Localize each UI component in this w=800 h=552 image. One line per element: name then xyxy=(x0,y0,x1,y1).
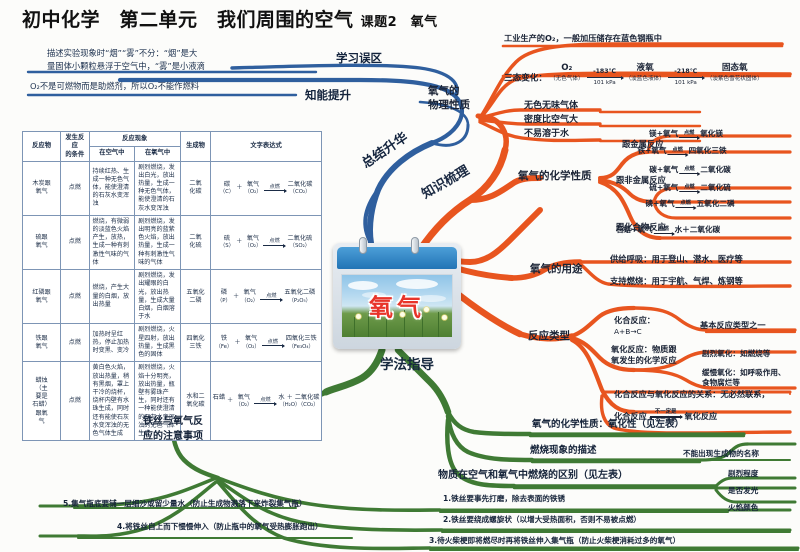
mindmap-canvas: 初中化学 第二单元 我们周围的空气 课题2 氧气 描述实验现象时“烟”“雾”不分… xyxy=(0,0,800,552)
cell-in-air: 持续红热、生成一种无色气体，能使澄清的石灰水变浑浊 xyxy=(89,161,135,215)
iron-note-3: 3.待火柴梗即将燃尽时再将铁丝伸入集气瓶（防止火柴梗消耗过多的氧气） xyxy=(429,537,680,546)
misconception-line-2: 量固体小颗粒悬浮于空气中，“雾”是小液滴 xyxy=(47,60,205,73)
physical-properties-label[interactable]: 氧气的物理性质 xyxy=(428,84,470,112)
nonmetal-equation-2: 硫+氧气点燃二氧化硫 xyxy=(649,184,731,193)
table-row: 红磷跟氧气点燃燃烧，产生大量的白烟，放出热量剧烈燃烧，发出耀眼的白光，放出热量，… xyxy=(23,270,322,324)
physical-property-2: 密度比空气大 xyxy=(524,115,578,125)
slow-oxidation: 缓慢氧化：如呼吸作用、食物腐烂等 xyxy=(702,368,786,389)
tristate-s2: 液氧 xyxy=(637,63,654,73)
green-chem-oxidizing: 氧气的化学性质：氧化性（见左表） xyxy=(532,420,684,431)
tristate-s2-note: （淡蓝色液体） xyxy=(626,76,665,82)
cell-product: 四氧化三铁 xyxy=(180,324,210,362)
tristate-t2: -218℃ xyxy=(674,68,697,75)
cell-condition: 点燃 xyxy=(61,362,89,441)
tristate-label: 三态变化： xyxy=(504,73,547,83)
tristate-p1: 101 kPa xyxy=(593,80,615,86)
cell-in-oxygen: 剧烈燃烧，发出明亮的蓝紫色火焰，放出热量，生成一种有刺激性气味的气体 xyxy=(135,215,181,269)
label-method-branch[interactable]: 学法指导 xyxy=(380,358,434,374)
cell-condition: 点燃 xyxy=(61,270,89,324)
nonmetal-equation-3: 磷+氧气点燃五氧化二磷 xyxy=(645,200,734,209)
misconception-line-1: 描述实验现象时“烟”“雾”不分：“烟”是大 xyxy=(47,47,205,60)
tristate-s1-note: （无色气体） xyxy=(550,76,584,82)
tristate-s3: 固态氧 xyxy=(722,63,748,73)
tristate-p2: 101 kPa xyxy=(675,80,697,86)
tristate-s3-note: （淡紫色雪花状固体） xyxy=(707,76,763,82)
reaction-table: 反应物 发生反应的条件 反应现象 生成物 文字表达式 在空气中 在氧气中 木炭跟… xyxy=(22,131,322,441)
label-learning-misconception[interactable]: 学习误区 xyxy=(336,52,382,65)
tristate-s1: O₂ xyxy=(561,63,572,73)
th-phenomena: 反应现象 xyxy=(89,132,180,147)
iron-note-5: 5.集气瓶底要铺一层细沙或留少量水（防止生成物溅落下来炸裂集气瓶） xyxy=(63,500,307,509)
metal-equation-2: 铁+氧气点燃四氧化三铁 xyxy=(637,147,726,156)
cell-reactant: 蜡烛（主要是石蜡）跟氧气 xyxy=(23,362,61,441)
misconception-text-1: 描述实验现象时“烟”“雾”不分：“烟”是大 量固体小颗粒悬浮于空气中，“雾”是小… xyxy=(47,47,205,73)
difference-point-2: 是否发光 xyxy=(728,487,758,496)
cell-in-air: 黄白色火焰，放出热量，稍有黑烟，罩上干冷的烧杯，烧杯内壁有水珠生成，同时还有能使… xyxy=(89,362,135,441)
table-row: 铁跟氧气点燃加热时呈红热，停止加热时变黑、变冷剧烈燃烧，火星四射，放出热量，生成… xyxy=(23,324,322,362)
th-in-air: 在空气中 xyxy=(89,146,135,161)
metal-equation-1: 镁+氧气点燃氧化镁 xyxy=(649,130,723,139)
tristate-arrow-2: -218℃ 101 kPa xyxy=(668,67,704,88)
cell-in-oxygen: 剧烈燃烧，发出白光，放出热量，生成一种无色气体，能使澄清的石灰水变浑浊 xyxy=(135,161,181,215)
table-header-row: 反应物 发生反应的条件 反应现象 生成物 文字表达式 xyxy=(23,132,322,147)
calendar-body: 氧气 xyxy=(333,243,461,349)
page-title: 初中化学 第二单元 我们周围的空气 课题2 氧气 xyxy=(22,10,438,32)
tristate-state-2: 液氧 （淡蓝色液体） xyxy=(626,63,665,84)
tristate-t1: -183℃ xyxy=(593,68,616,75)
cell-equation: 硫（S）＋氧气（O₂）点燃二氧化硫（SO₂） xyxy=(211,215,322,269)
misconception-text-2: O₂不是可燃物而是助燃剂，所以O₂不能作燃料 xyxy=(30,82,199,92)
cell-equation: 石蜡 ＋氧气（O₂）点燃水 ＋ 二氧化碳（H₂O）（CO₂） xyxy=(211,362,322,441)
th-product: 生成物 xyxy=(180,132,210,162)
table-body: 木炭跟氧气点燃持续红热、生成一种无色气体，能使澄清的石灰水变浑浊剧烈燃烧，发出白… xyxy=(23,161,322,441)
th-equation: 文字表达式 xyxy=(211,132,322,162)
relation-note: 化合反应与氧化反应的关系：无必然联系， xyxy=(614,390,770,399)
violent-oxidation: 剧烈氧化：如燃烧等 xyxy=(702,350,770,359)
th-in-oxygen: 在氧气中 xyxy=(135,146,181,161)
cell-condition: 点燃 xyxy=(61,161,89,215)
nonmetal-equation-1: 碳+氧气点燃二氧化碳 xyxy=(649,166,731,175)
title-main: 初中化学 第二单元 我们周围的空气 xyxy=(22,9,354,31)
oxygen-uses-label[interactable]: 氧气的用途 xyxy=(530,263,583,275)
cell-condition: 点燃 xyxy=(61,324,89,362)
no-product-name-note: 不能出现生成物的名称 xyxy=(683,450,759,459)
iron-note-4: 4.将铁丝自上而下慢慢伸入（防止瓶中的氧气受热膨胀跑出） xyxy=(117,523,323,532)
cell-product: 二氧化硫 xyxy=(180,215,210,269)
cell-product: 五氧化二磷 xyxy=(180,270,210,324)
chemical-properties-label[interactable]: 氧气的化学性质 xyxy=(518,170,592,182)
title-sub: 课题2 氧气 xyxy=(361,15,438,30)
table-row: 硫跟氧气点燃燃烧，有微弱的淡蓝色火焰产生，放热，生成一种有刺激性气味的气体剧烈燃… xyxy=(23,215,322,269)
iron-note-2: 2.铁丝要绕成螺旋状（以增大受热面积，否则不易被点燃） xyxy=(443,516,641,525)
th-condition: 发生反应的条件 xyxy=(61,132,89,162)
physical-property-3: 不易溶于水 xyxy=(524,129,569,139)
physical-property-1: 无色无味气体 xyxy=(524,101,578,111)
cell-equation: 磷（P）＋氧气（O₂）点燃五氧化二磷（P₂O₅） xyxy=(211,270,322,324)
iron-wire-note-label[interactable]: 铁丝与氧气反应的注意事项 xyxy=(143,415,203,444)
tristate-change: 三态变化： O₂ （无色气体） -183℃ 101 kPa 液氧 （淡蓝色液体）… xyxy=(504,63,763,88)
burning-description-label[interactable]: 燃烧现象的描述 xyxy=(530,446,597,457)
cell-in-air: 燃烧，产生大量的白烟，放出热量 xyxy=(89,270,135,324)
difference-point-3: 火焰颜色 xyxy=(728,504,758,513)
combination-label: 化合反应： xyxy=(614,315,655,325)
cell-equation: 碳（C）＋氧气（O₂）点燃二氧化碳（CO₂） xyxy=(211,161,322,215)
industrial-oxygen-note: 工业生产的O₂，一般加压储存在蓝色钢瓶中 xyxy=(504,34,662,43)
combination-reaction: 化合反应： A+B→C xyxy=(614,315,655,337)
calendar-ring-left xyxy=(359,237,367,254)
air-vs-oxygen-difference: 物质在空气和氧气中燃烧的区别（见左表） xyxy=(438,470,628,482)
cell-in-oxygen: 剧烈燃烧，火星四射，放出热量，生成黑色的固体 xyxy=(135,324,181,362)
center-node-title: 氧气 xyxy=(342,287,452,322)
tristate-state-1: O₂ （无色气体） xyxy=(550,63,584,84)
label-ability-improvement[interactable]: 知能提升 xyxy=(305,89,351,102)
oxygen-use-2: 支持燃烧：用于宇航、气焊、炼钢等 xyxy=(610,277,743,287)
cell-reactant: 木炭跟氧气 xyxy=(23,161,61,215)
cell-equation: 铁（Fe）＋氧气（O₂）点燃四氧化三铁（Fe₃O₄） xyxy=(211,324,322,362)
calendar-header-bar xyxy=(337,247,457,269)
cell-in-oxygen: 剧烈燃烧，发出耀眼的白光，放出热量，生成大量白烟，白烟溶于水 xyxy=(135,270,181,324)
cell-reactant: 硫跟氧气 xyxy=(23,215,61,269)
label-knowledge-branch[interactable]: 知识梳理 xyxy=(420,164,473,203)
oxidation-reaction: 氧化反应：物质跟氧发生的化学反应 xyxy=(611,344,677,367)
compound-equation-1: 石蜡+氧气点燃水＋二氧化碳 xyxy=(616,226,720,235)
cell-in-air: 加热时呈红热，停止加热时变黑、变冷 xyxy=(89,324,135,362)
th-reactant: 反应物 xyxy=(23,132,61,162)
difference-point-1: 剧烈程度 xyxy=(728,470,758,479)
basic-reaction-type: 基本反应类型之一 xyxy=(700,321,766,330)
combination-formula: A+B→C xyxy=(614,327,642,336)
calendar-photo: 氧气 xyxy=(341,274,453,338)
relation-right: 氧化反应 xyxy=(684,411,717,421)
label-summary-branch[interactable]: 总结升华 xyxy=(360,131,411,172)
cell-in-air: 燃烧，有微弱的淡蓝色火焰产生，放热，生成一种有刺激性气味的气体 xyxy=(89,215,135,269)
cell-reactant: 红磷跟氧气 xyxy=(23,270,61,324)
cell-reactant: 铁跟氧气 xyxy=(23,324,61,362)
cell-product: 二氧化碳 xyxy=(180,161,210,215)
reaction-type-label[interactable]: 反应类型 xyxy=(528,330,570,342)
iron-note-1: 1.铁丝要事先打磨，除去表面的铁锈 xyxy=(443,495,565,504)
oxygen-use-1: 供给呼吸：用于登山、潜水、医疗等 xyxy=(610,255,743,265)
tristate-state-3: 固态氧 （淡紫色雪花状固体） xyxy=(707,63,763,84)
cell-condition: 点燃 xyxy=(61,215,89,269)
calendar-ring-right xyxy=(411,237,419,254)
table-row: 木炭跟氧气点燃持续红热、生成一种无色气体，能使澄清的石灰水变浑浊剧烈燃烧，发出白… xyxy=(23,161,322,215)
center-node[interactable]: 氧气 xyxy=(333,243,461,349)
tristate-arrow-1: -183℃ 101 kPa xyxy=(587,67,623,88)
